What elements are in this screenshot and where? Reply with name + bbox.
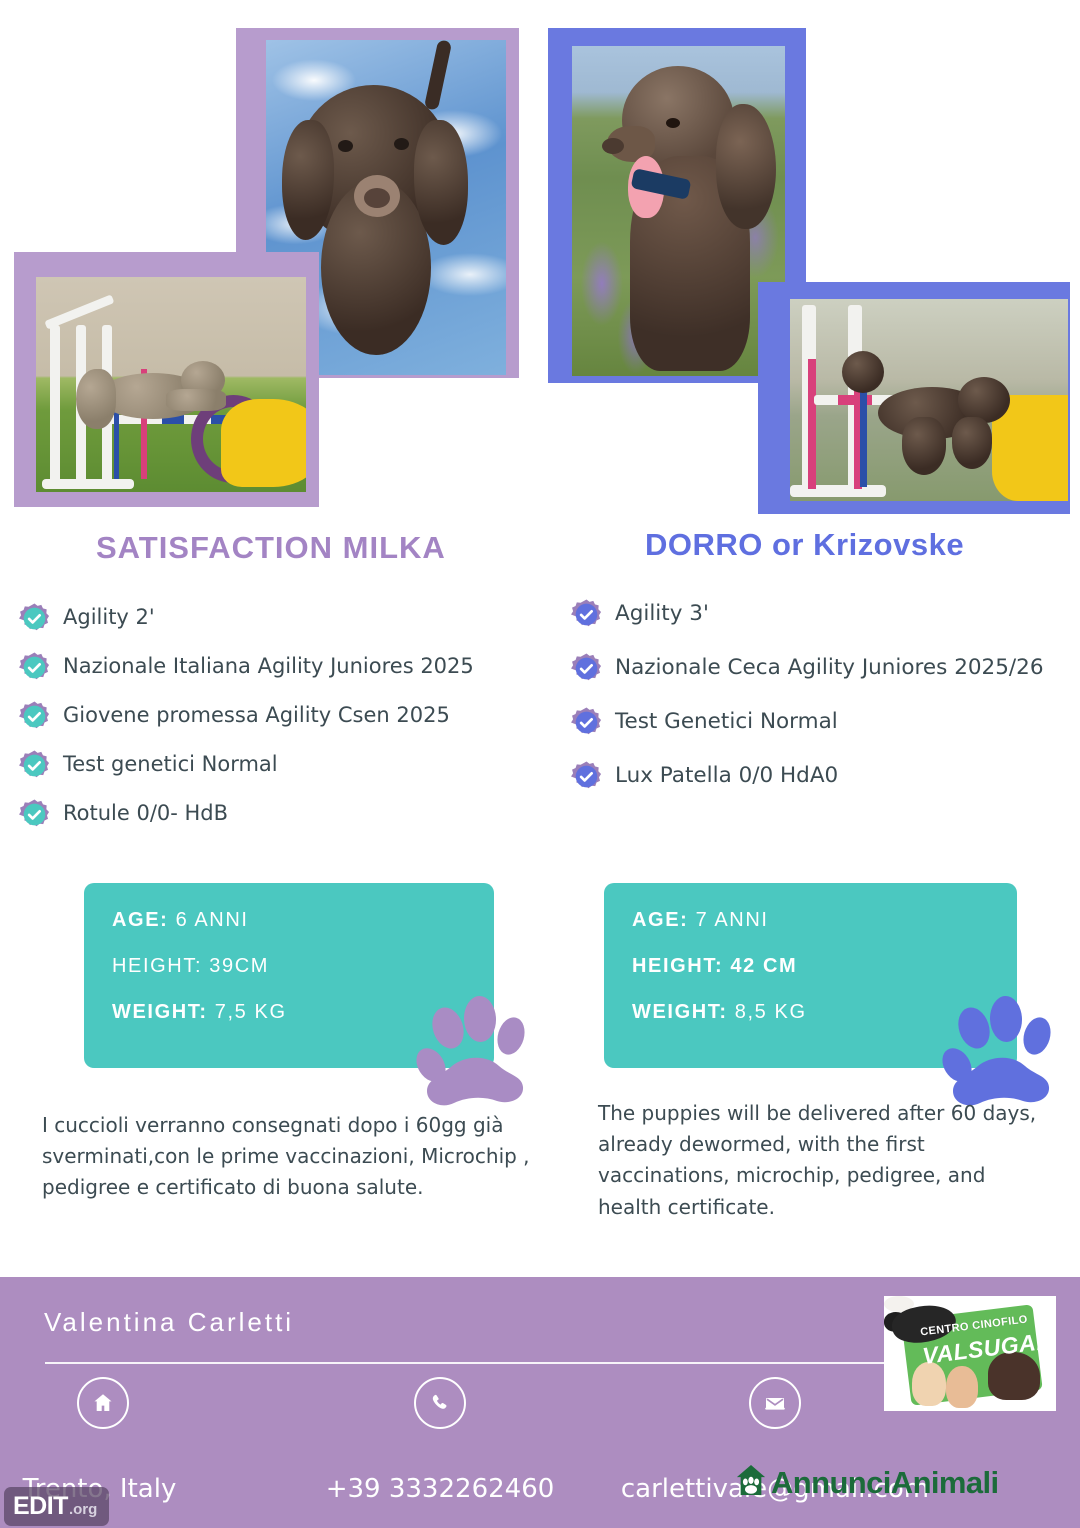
phone-icon bbox=[414, 1377, 466, 1429]
info-line-age: AGE: 6 ANNI bbox=[112, 909, 494, 932]
info-value-age: 6 ANNI bbox=[168, 909, 248, 931]
verified-badge-icon bbox=[18, 700, 51, 733]
photo-frame-milka-agility bbox=[14, 252, 319, 507]
achievement-text: Agility 3' bbox=[615, 598, 709, 629]
edit-watermark-main: EDIT bbox=[13, 1492, 68, 1521]
dog-titles: SATISFACTION MILKA DORRO or Krizovske bbox=[0, 530, 1080, 580]
info-line-height: HEIGHT: 42 CM bbox=[632, 955, 1017, 978]
info-value-age: 7 ANNI bbox=[688, 909, 768, 931]
info-label-weight: WEIGHT: bbox=[632, 1001, 728, 1023]
info-label-height: HEIGHT: bbox=[112, 955, 202, 977]
verified-badge-icon bbox=[18, 798, 51, 831]
achievement-text: Test Genetici Normal bbox=[615, 706, 838, 737]
valsugana-logo: CENTRO CINOFILO VALSUGANA bbox=[884, 1296, 1056, 1411]
achievement-text: Nazionale Italiana Agility Juniores 2025 bbox=[63, 651, 474, 681]
page-title-dorro: DORRO or Krizovske bbox=[645, 527, 964, 563]
photo-dorro-jumping-hurdle bbox=[790, 299, 1068, 501]
info-label-age: AGE: bbox=[112, 909, 168, 931]
verified-badge-icon bbox=[570, 760, 603, 793]
flyer-page: SATISFACTION MILKA DORRO or Krizovske Ag… bbox=[0, 0, 1080, 1528]
list-item: Lux Patella 0/0 HdA0 bbox=[570, 760, 1050, 793]
logo-dog-cream-2 bbox=[946, 1366, 978, 1408]
info-label-height: HEIGHT: bbox=[632, 955, 723, 977]
home-icon bbox=[77, 1377, 129, 1429]
verified-badge-icon bbox=[570, 706, 603, 739]
contact-phone-block[interactable]: +39 3332262460 bbox=[320, 1377, 560, 1504]
list-item: Agility 2' bbox=[18, 602, 563, 635]
info-value-weight: 7,5 KG bbox=[208, 1001, 287, 1023]
description-milka: I cuccioli verranno consegnati dopo i 60… bbox=[42, 1110, 542, 1204]
achievement-text: Rotule 0/0- HdB bbox=[63, 798, 228, 828]
phone-text: +39 3332262460 bbox=[320, 1474, 560, 1504]
verified-badge-icon bbox=[18, 749, 51, 782]
annuncianimali-watermark: AnnunciAnimali bbox=[735, 1463, 999, 1502]
paw-print-icon-milka bbox=[404, 988, 534, 1108]
edit-watermark-sub: .org bbox=[69, 1501, 97, 1518]
mail-icon bbox=[749, 1377, 801, 1429]
verified-badge-icon bbox=[18, 651, 51, 684]
achievement-text: Giovene promessa Agility Csen 2025 bbox=[63, 700, 450, 730]
verified-badge-icon bbox=[18, 602, 51, 635]
achievement-list-milka: Agility 2' Nazionale Italiana Agility Ju… bbox=[18, 602, 563, 847]
list-item: Nazionale Ceca Agility Juniores 2025/26 bbox=[570, 652, 1050, 685]
info-line-age: AGE: 7 ANNI bbox=[632, 909, 1017, 932]
verified-badge-icon bbox=[570, 598, 603, 631]
info-label-weight: WEIGHT: bbox=[112, 1001, 208, 1023]
list-item: Test Genetici Normal bbox=[570, 706, 1050, 739]
achievement-text: Test genetici Normal bbox=[63, 749, 278, 779]
achievement-text: Lux Patella 0/0 HdA0 bbox=[615, 760, 838, 791]
photo-frame-dorro-agility bbox=[758, 282, 1070, 514]
edit-org-watermark: EDIT .org bbox=[4, 1487, 109, 1526]
paw-print-icon-dorro bbox=[930, 988, 1060, 1108]
achievement-list-dorro: Agility 3' Nazionale Ceca Agility Junior… bbox=[570, 598, 1050, 814]
owner-name: Valentina Carletti bbox=[44, 1307, 294, 1338]
description-dorro: The puppies will be delivered after 60 d… bbox=[598, 1098, 1050, 1223]
verified-badge-icon bbox=[570, 652, 603, 685]
photo-collage bbox=[0, 0, 1080, 520]
photo-dorro-in-lavender bbox=[572, 46, 785, 376]
list-item: Test genetici Normal bbox=[18, 749, 563, 782]
contact-address-block[interactable]: Trento, Italy bbox=[20, 1377, 185, 1504]
info-value-height: 39CM bbox=[202, 955, 269, 977]
info-line-height: HEIGHT: 39CM bbox=[112, 955, 494, 978]
annunci-watermark-text: AnnunciAnimali bbox=[771, 1465, 999, 1501]
achievement-text: Agility 2' bbox=[63, 602, 155, 632]
page-title-milka: SATISFACTION MILKA bbox=[96, 530, 446, 566]
photo-milka-jumping-hurdle bbox=[36, 277, 306, 492]
list-item: Agility 3' bbox=[570, 598, 1050, 631]
list-item: Nazionale Italiana Agility Juniores 2025 bbox=[18, 651, 563, 684]
achievement-text: Nazionale Ceca Agility Juniores 2025/26 bbox=[615, 652, 1044, 683]
list-item: Rotule 0/0- HdB bbox=[18, 798, 563, 831]
annunci-house-paw-icon bbox=[735, 1463, 767, 1502]
list-item: Giovene promessa Agility Csen 2025 bbox=[18, 700, 563, 733]
info-value-height: 42 CM bbox=[723, 955, 797, 977]
info-label-age: AGE: bbox=[632, 909, 688, 931]
info-value-weight: 8,5 KG bbox=[728, 1001, 807, 1023]
